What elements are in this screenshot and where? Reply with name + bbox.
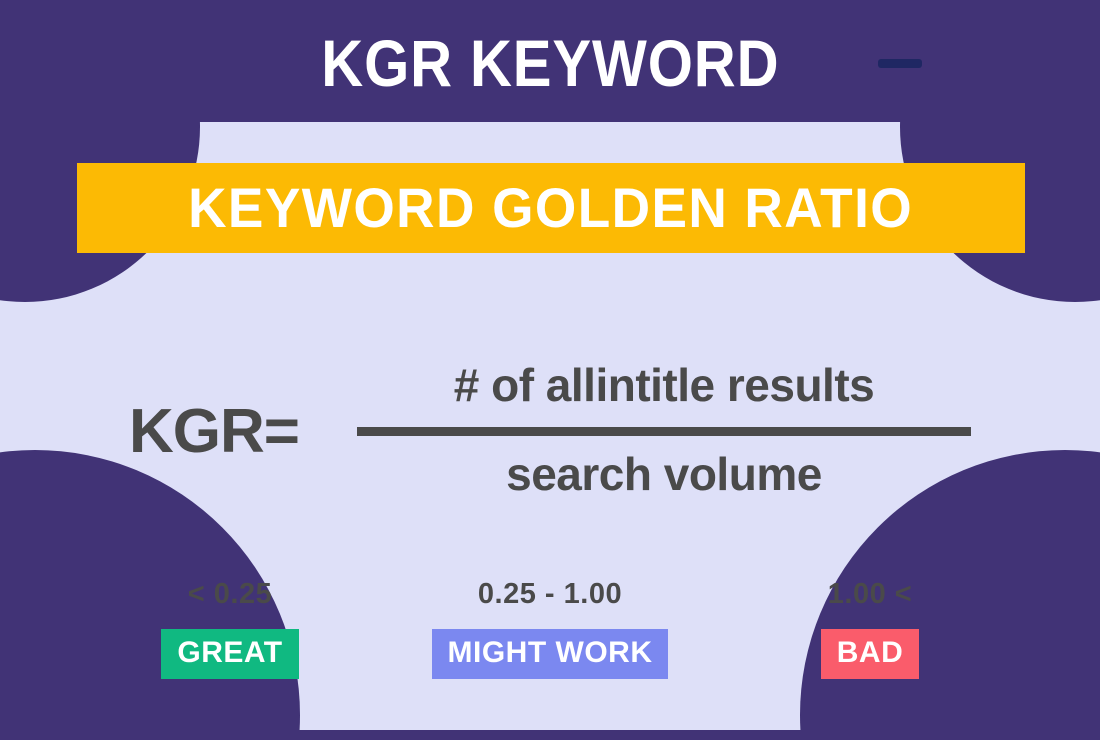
formula-left-side: KGR= bbox=[129, 401, 299, 463]
status-badge-great: GREAT bbox=[161, 629, 298, 679]
scale-column-might-work: 0.25 - 1.00 MIGHT WORK bbox=[390, 580, 710, 679]
formula: KGR= # of allintitle results search volu… bbox=[0, 330, 1100, 530]
scale-range-label: 1.00 < bbox=[828, 580, 912, 609]
infographic-canvas: KGR KEYWORD KEYWORD GOLDEN RATIO KGR= # … bbox=[0, 0, 1100, 740]
status-badge-might-work: MIGHT WORK bbox=[432, 629, 669, 679]
rating-scale: < 0.25 GREAT 0.25 - 1.00 MIGHT WORK 1.00… bbox=[0, 580, 1100, 679]
scale-column-great: < 0.25 GREAT bbox=[70, 580, 390, 679]
formula-numerator: # of allintitle results bbox=[454, 357, 875, 415]
banner: KEYWORD GOLDEN RATIO bbox=[77, 163, 1025, 253]
status-badge-bad: BAD bbox=[821, 629, 920, 679]
header: KGR KEYWORD bbox=[0, 0, 1100, 122]
page-title: KGR KEYWORD bbox=[321, 30, 779, 96]
scale-column-bad: 1.00 < BAD bbox=[710, 580, 1030, 679]
banner-title: KEYWORD GOLDEN RATIO bbox=[188, 180, 913, 236]
dash-icon bbox=[878, 59, 922, 68]
formula-denominator: search volume bbox=[506, 446, 822, 504]
scale-range-label: 0.25 - 1.00 bbox=[478, 580, 622, 609]
scale-range-label: < 0.25 bbox=[188, 580, 272, 609]
formula-fraction: # of allintitle results search volume bbox=[357, 357, 971, 503]
fraction-bar bbox=[357, 427, 971, 436]
